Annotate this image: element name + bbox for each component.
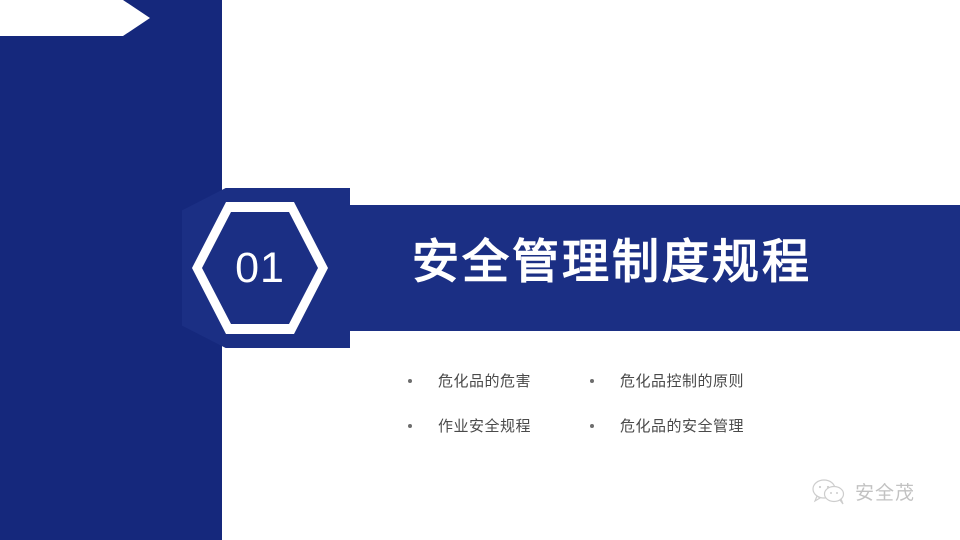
page-title: 安全管理制度规程 [412, 236, 812, 288]
bullet-dot-icon [408, 379, 412, 383]
watermark-label: 安全茂 [855, 478, 915, 505]
list-item-label: 作业安全规程 [438, 415, 531, 436]
list-item[interactable]: 危化品控制的原则 [590, 370, 800, 391]
list-item-label: 危化品的安全管理 [620, 415, 744, 436]
section-number: 01 [192, 202, 328, 334]
list-item-label: 危化品的危害 [438, 370, 531, 391]
list-item-label: 危化品控制的原则 [620, 370, 744, 391]
bullet-dot-icon [590, 424, 594, 428]
bullet-dot-icon [590, 379, 594, 383]
list-item[interactable]: 危化品的危害 [408, 370, 590, 391]
list-item[interactable]: 危化品的安全管理 [590, 415, 800, 436]
list-item[interactable]: 作业安全规程 [408, 415, 590, 436]
topic-list: 危化品的危害 危化品控制的原则 作业安全规程 危化品的安全管理 [408, 358, 800, 448]
bullet-dot-icon [408, 424, 412, 428]
watermark: 安全茂 [812, 478, 915, 505]
wechat-icon [812, 479, 846, 505]
slide-canvas: 01 安全管理制度规程 危化品的危害 危化品控制的原则 作业安全规程 危化品的安… [0, 0, 960, 540]
